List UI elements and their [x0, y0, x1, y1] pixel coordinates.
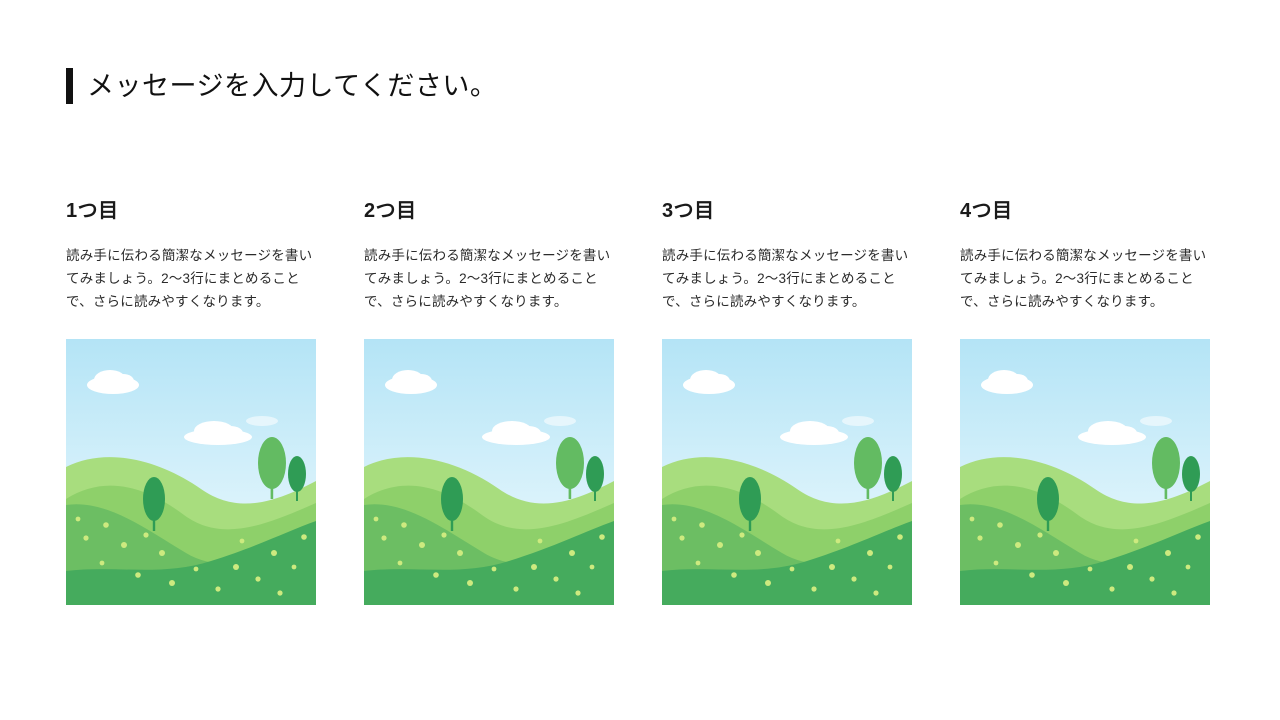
- landscape-illustration: [960, 339, 1210, 605]
- column-body-text: 読み手に伝わる簡潔なメッセージを書いてみましょう。2〜3行にまとめることで、さら…: [66, 244, 316, 313]
- column-heading: 3つ目: [662, 198, 912, 224]
- content-column: 3つ目 読み手に伝わる簡潔なメッセージを書いてみましょう。2〜3行にまとめること…: [662, 198, 912, 605]
- landscape-illustration: [66, 339, 316, 605]
- content-column: 2つ目 読み手に伝わる簡潔なメッセージを書いてみましょう。2〜3行にまとめること…: [364, 198, 614, 605]
- column-body-text: 読み手に伝わる簡潔なメッセージを書いてみましょう。2〜3行にまとめることで、さら…: [364, 244, 614, 313]
- slide-canvas: メッセージを入力してください。 1つ目 読み手に伝わる簡潔なメッセージを書いてみ…: [0, 0, 1280, 720]
- column-heading: 1つ目: [66, 198, 316, 224]
- column-heading: 2つ目: [364, 198, 614, 224]
- landscape-illustration: [364, 339, 614, 605]
- landscape-illustration: [662, 339, 912, 605]
- content-column: 1つ目 読み手に伝わる簡潔なメッセージを書いてみましょう。2〜3行にまとめること…: [66, 198, 316, 605]
- content-column: 4つ目 読み手に伝わる簡潔なメッセージを書いてみましょう。2〜3行にまとめること…: [960, 198, 1210, 605]
- column-body-text: 読み手に伝わる簡潔なメッセージを書いてみましょう。2〜3行にまとめることで、さら…: [960, 244, 1210, 313]
- page-title-text: メッセージを入力してください。: [87, 68, 497, 104]
- column-body-text: 読み手に伝わる簡潔なメッセージを書いてみましょう。2〜3行にまとめることで、さら…: [662, 244, 912, 313]
- column-heading: 4つ目: [960, 198, 1210, 224]
- content-columns: 1つ目 読み手に伝わる簡潔なメッセージを書いてみましょう。2〜3行にまとめること…: [66, 198, 1216, 605]
- page-title: メッセージを入力してください。: [66, 66, 497, 106]
- title-accent-bar: [66, 68, 73, 104]
